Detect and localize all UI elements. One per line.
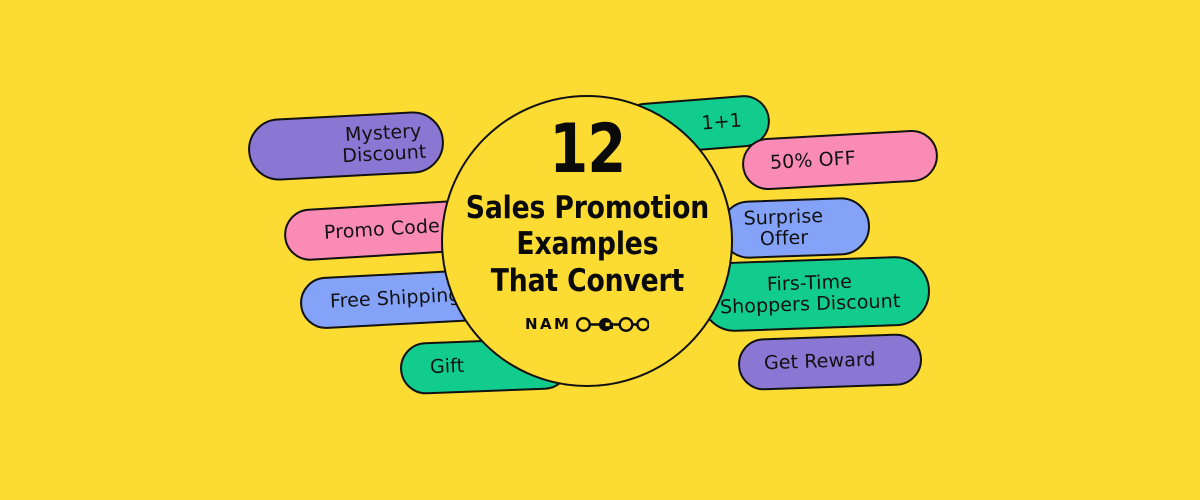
pill-label: Mystery Discount bbox=[341, 121, 427, 168]
pill-fifty-percent-off[interactable]: 50% OFF bbox=[741, 129, 940, 192]
pill-label: Firs-Time Shoppers Discount bbox=[719, 270, 901, 319]
pill-get-reward[interactable]: Get Reward bbox=[737, 333, 923, 391]
promo-graphic-canvas: Mystery Discount Promo Code Free Shippin… bbox=[0, 0, 1200, 500]
pill-label: Get Reward bbox=[764, 350, 876, 375]
pill-first-time-shoppers-discount[interactable]: Firs-Time Shoppers Discount bbox=[699, 255, 931, 333]
pill-label: Surprise Offer bbox=[743, 206, 824, 251]
headline-line-3: That Convert bbox=[465, 263, 708, 300]
pill-label: 50% OFF bbox=[770, 148, 857, 174]
pill-surprise-offer[interactable]: Surprise Offer bbox=[719, 196, 871, 259]
svg-text:NAM: NAM bbox=[525, 315, 571, 333]
pill-label: Free Shipping bbox=[330, 285, 461, 313]
pill-mystery-discount[interactable]: Mystery Discount bbox=[247, 110, 446, 182]
pill-label: 1+1 bbox=[701, 111, 743, 135]
headline-text: Sales Promotion Examples That Convert bbox=[446, 190, 729, 300]
pill-label: Gift bbox=[430, 356, 465, 379]
pill-label: Promo Code bbox=[323, 216, 440, 244]
headline-number: 12 bbox=[549, 117, 625, 184]
center-circle-badge: 12 Sales Promotion Examples That Convert… bbox=[441, 95, 733, 387]
namogoo-logo: NAM bbox=[525, 315, 649, 335]
headline-line-2: Examples bbox=[465, 226, 708, 263]
headline-line-1: Sales Promotion bbox=[465, 190, 708, 227]
